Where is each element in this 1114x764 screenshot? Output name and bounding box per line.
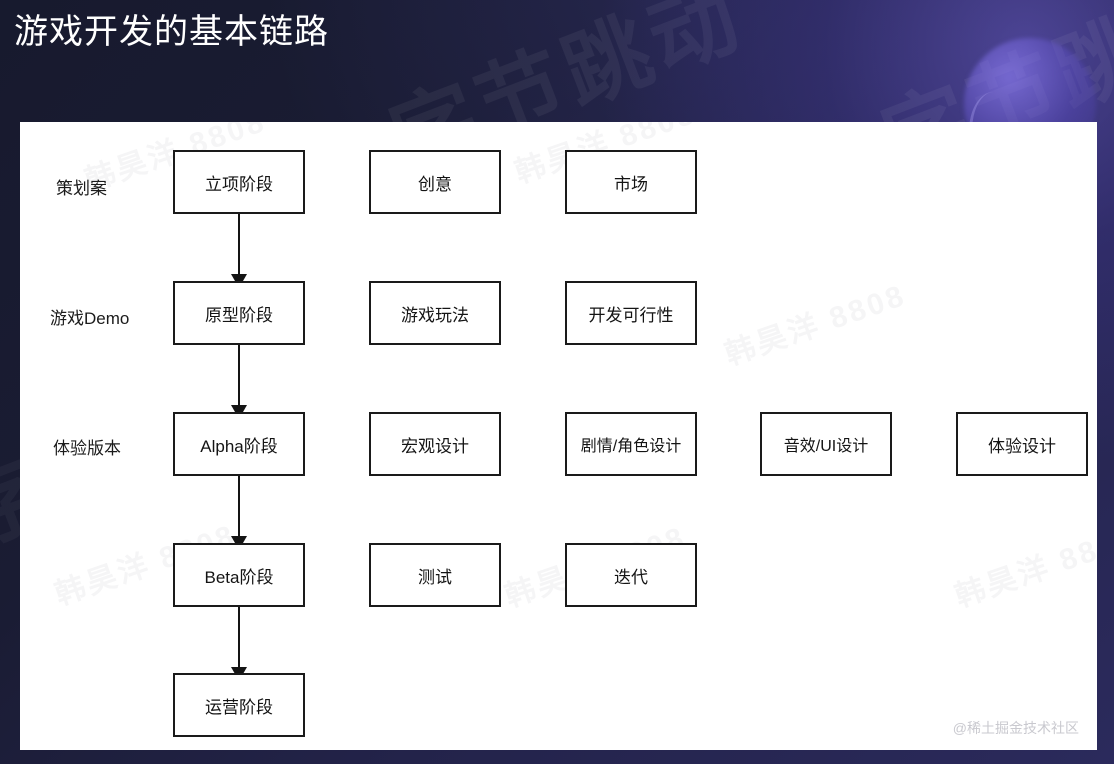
arrow-line-prototype-to-alpha [238, 345, 240, 411]
node-testing[interactable]: 测试 [369, 543, 501, 607]
node-dev-feasibility[interactable]: 开发可行性 [565, 281, 697, 345]
slide-canvas: 字节跳动 字节跳动 字节跳动 游戏开发的基本链路 韩昊洋 8808 韩昊洋 88… [0, 0, 1114, 764]
node-market[interactable]: 市场 [565, 150, 697, 214]
row-label-experience-build: 体验版本 [53, 434, 121, 459]
diagram-card: 韩昊洋 8808 韩昊洋 8808 韩昊洋 8808 韩昊洋 8808 韩昊洋 … [20, 122, 1097, 750]
node-gameplay[interactable]: 游戏玩法 [369, 281, 501, 345]
node-experience-design[interactable]: 体验设计 [956, 412, 1088, 476]
arrow-line-alpha-to-beta [238, 476, 240, 542]
node-prototype-stage[interactable]: 原型阶段 [173, 281, 305, 345]
credit-label: @稀土掘金技术社区 [953, 718, 1079, 738]
arrow-line-beta-to-operations [238, 607, 240, 673]
node-macro-design[interactable]: 宏观设计 [369, 412, 501, 476]
node-story-character-design[interactable]: 剧情/角色设计 [565, 412, 697, 476]
node-iteration[interactable]: 迭代 [565, 543, 697, 607]
node-audio-ui-design[interactable]: 音效/UI设计 [760, 412, 892, 476]
node-project-kickoff[interactable]: 立项阶段 [173, 150, 305, 214]
card-watermark: 韩昊洋 8808 [948, 512, 1097, 615]
page-title: 游戏开发的基本链路 [14, 9, 329, 55]
row-label-planning: 策划案 [56, 174, 107, 199]
node-alpha-stage[interactable]: Alpha阶段 [173, 412, 305, 476]
node-beta-stage[interactable]: Beta阶段 [173, 543, 305, 607]
node-idea[interactable]: 创意 [369, 150, 501, 214]
card-watermark: 韩昊洋 8808 [718, 270, 911, 373]
row-label-game-demo: 游戏Demo [50, 304, 129, 329]
node-operations-stage[interactable]: 运营阶段 [173, 673, 305, 737]
arrow-line-kickoff-to-prototype [238, 214, 240, 280]
